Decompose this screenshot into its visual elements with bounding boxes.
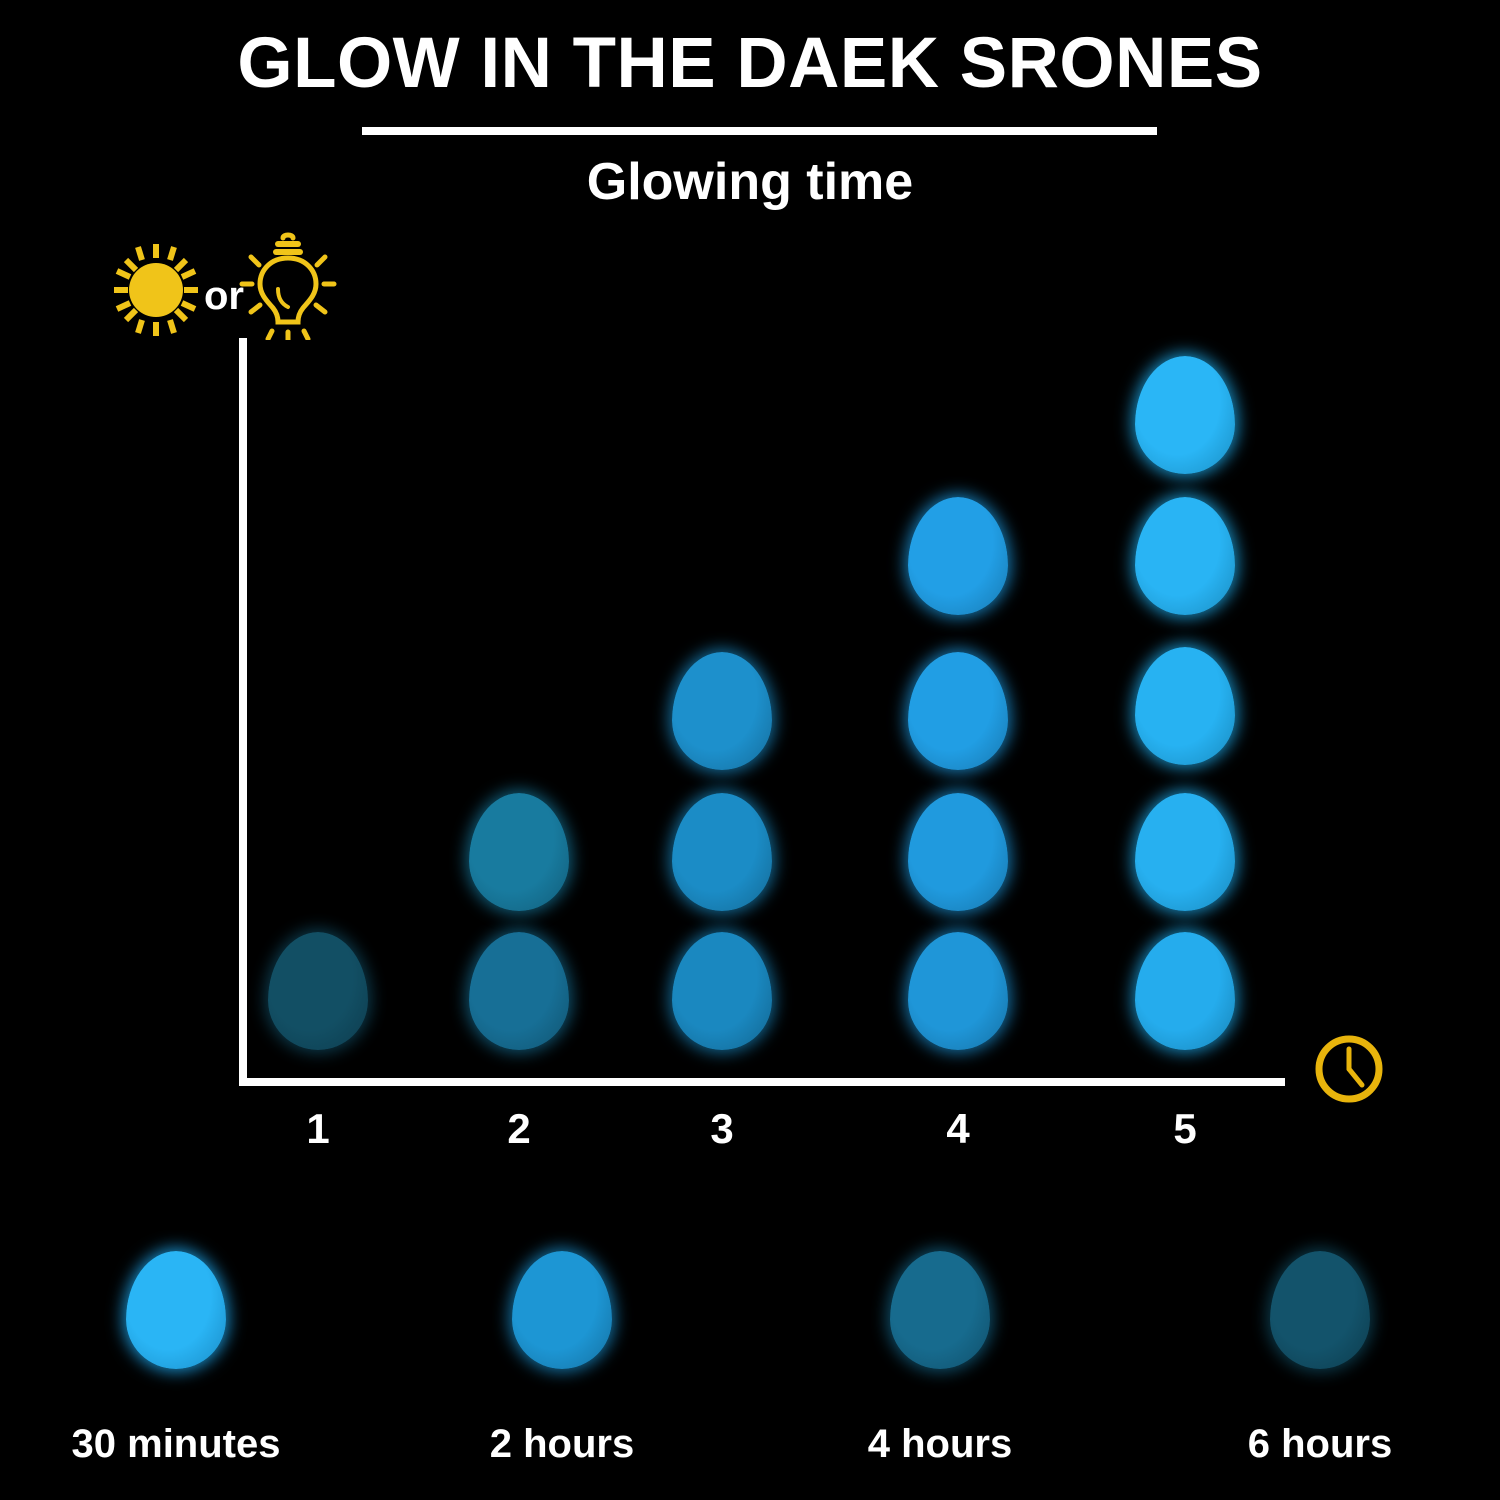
glow-stone <box>672 793 772 911</box>
glow-stone <box>1135 647 1235 765</box>
legend-stone <box>512 1251 612 1369</box>
glow-stone <box>908 652 1008 770</box>
legend-label: 4 hours <box>868 1422 1012 1467</box>
glow-stone <box>1135 356 1235 474</box>
page-title: GLOW IN THE DAEK SRONES <box>0 28 1500 99</box>
clock-icon <box>1312 1032 1386 1106</box>
x-tick-label: 1 <box>306 1105 329 1153</box>
glow-stone <box>1135 932 1235 1050</box>
legend-label: 6 hours <box>1248 1422 1392 1467</box>
x-tick-label: 4 <box>946 1105 969 1153</box>
glow-stone <box>268 932 368 1050</box>
legend-stone <box>126 1251 226 1369</box>
glow-stone <box>1135 793 1235 911</box>
y-axis-line <box>239 338 247 1086</box>
title-divider <box>362 127 1157 135</box>
glow-stone <box>908 793 1008 911</box>
x-axis-line <box>239 1078 1285 1086</box>
glow-stone <box>908 932 1008 1050</box>
legend-label: 30 minutes <box>72 1422 281 1467</box>
glow-stone <box>908 497 1008 615</box>
glow-stone <box>672 652 772 770</box>
sun-icon <box>100 240 212 340</box>
x-tick-label: 2 <box>507 1105 530 1153</box>
x-tick-label: 3 <box>710 1105 733 1153</box>
legend-label: 2 hours <box>490 1422 634 1467</box>
charge-source-group: or <box>100 236 338 344</box>
glow-stone <box>672 932 772 1050</box>
light-bulb-icon <box>238 232 338 340</box>
page-subtitle: Glowing time <box>0 152 1500 212</box>
glow-stone <box>469 932 569 1050</box>
glow-stone <box>1135 497 1235 615</box>
glow-stone <box>469 793 569 911</box>
x-tick-label: 5 <box>1173 1105 1196 1153</box>
infographic-canvas: GLOW IN THE DAEK SRONES Glowing time <box>0 0 1500 1500</box>
legend-stone <box>1270 1251 1370 1369</box>
legend-stone <box>890 1251 990 1369</box>
